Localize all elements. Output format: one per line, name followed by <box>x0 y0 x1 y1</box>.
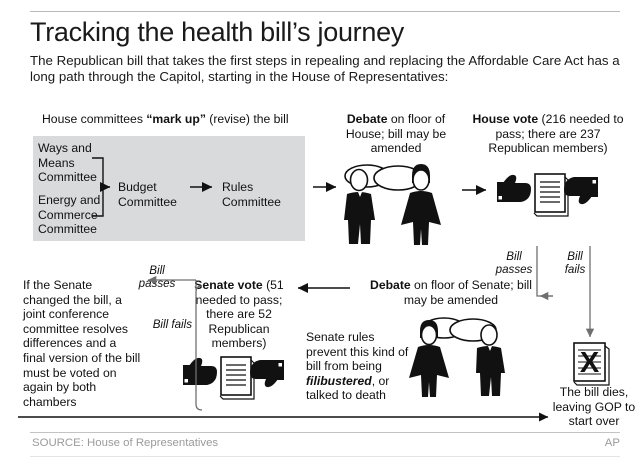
senate-debate-caption: Debate on floor of Senate; bill may be a… <box>362 278 540 307</box>
senate-debate-illustration <box>409 318 505 397</box>
senate-rules-caption: Senate rules prevent this kind of bill f… <box>306 330 418 403</box>
house-debate-bold: Debate <box>347 112 388 126</box>
agency-credit: AP <box>560 437 620 449</box>
speech-bubble-icon <box>345 165 422 190</box>
page-subtitle: The Republican bill that takes the first… <box>30 53 626 86</box>
bill-document-icon <box>534 174 568 216</box>
figure-man-icon <box>344 170 375 245</box>
header-divider <box>30 11 620 12</box>
x-mark-icon: X <box>580 347 600 379</box>
house-committees-caption: House committees “mark up” (revise) the … <box>42 112 332 127</box>
footer-divider <box>30 432 620 433</box>
house-vote-caption: House vote (216 needed to pass; there ar… <box>472 112 624 156</box>
source-credit: SOURCE: House of Representatives <box>32 437 218 449</box>
caption-markup-bold: “mark up” <box>146 112 206 126</box>
infographic-canvas: Tracking the health bill’s journey The R… <box>0 0 640 464</box>
senate-branch-fail-label: Bill fails <box>138 318 192 331</box>
bill-dies-illustration: X <box>574 343 609 385</box>
page-title: Tracking the health bill’s journey <box>30 16 620 48</box>
bill-dies-caption: The bill dies, leaving GOP to start over <box>550 385 638 429</box>
house-vote-bold: House vote <box>472 112 538 126</box>
figure-woman-icon <box>401 164 441 245</box>
house-debate-caption: Debate on floor of House; bill may be am… <box>334 112 458 156</box>
senate-debate-bold: Debate <box>370 278 411 292</box>
senate-vote-illustration <box>183 357 284 399</box>
senate-vote-caption: Senate vote (51 needed to pass; there ar… <box>188 278 290 351</box>
senate-debate-rest: on floor of Senate; bill may be amended <box>404 278 532 307</box>
senate-rules-filibustered: filibustered <box>306 374 372 388</box>
thumbs-up-icon <box>183 358 217 385</box>
speech-bubble-icon <box>423 318 496 341</box>
senate-vote-bold: Senate vote <box>194 278 262 292</box>
caption-part-3: (revise) the bill <box>206 112 289 126</box>
house-branch-fail-label: Bill fails <box>556 250 594 277</box>
conference-committee-caption: If the Senate changed the bill, a joint … <box>23 278 141 409</box>
house-branch-pass-label: Bill passes <box>492 250 536 277</box>
caption-part-1: House committees <box>42 112 146 126</box>
bill-document-icon <box>220 357 254 399</box>
house-debate-illustration <box>344 164 441 245</box>
senate-rules-part-1: Senate rules prevent this kind of bill f… <box>306 330 408 373</box>
thumbs-down-icon <box>250 360 284 387</box>
thumbs-down-icon <box>564 177 598 204</box>
committee-budget: Budget Committee <box>118 180 182 209</box>
figure-man-icon <box>476 325 505 396</box>
thumbs-up-icon <box>497 175 531 202</box>
committee-rules: Rules Committee <box>222 180 284 209</box>
committee-energy-and-commerce: Energy and Commerce Committee <box>38 193 104 237</box>
house-vote-illustration <box>497 174 598 216</box>
committee-ways-and-means: Ways and Means Committee <box>38 141 100 185</box>
footer-divider-lower <box>30 456 620 457</box>
